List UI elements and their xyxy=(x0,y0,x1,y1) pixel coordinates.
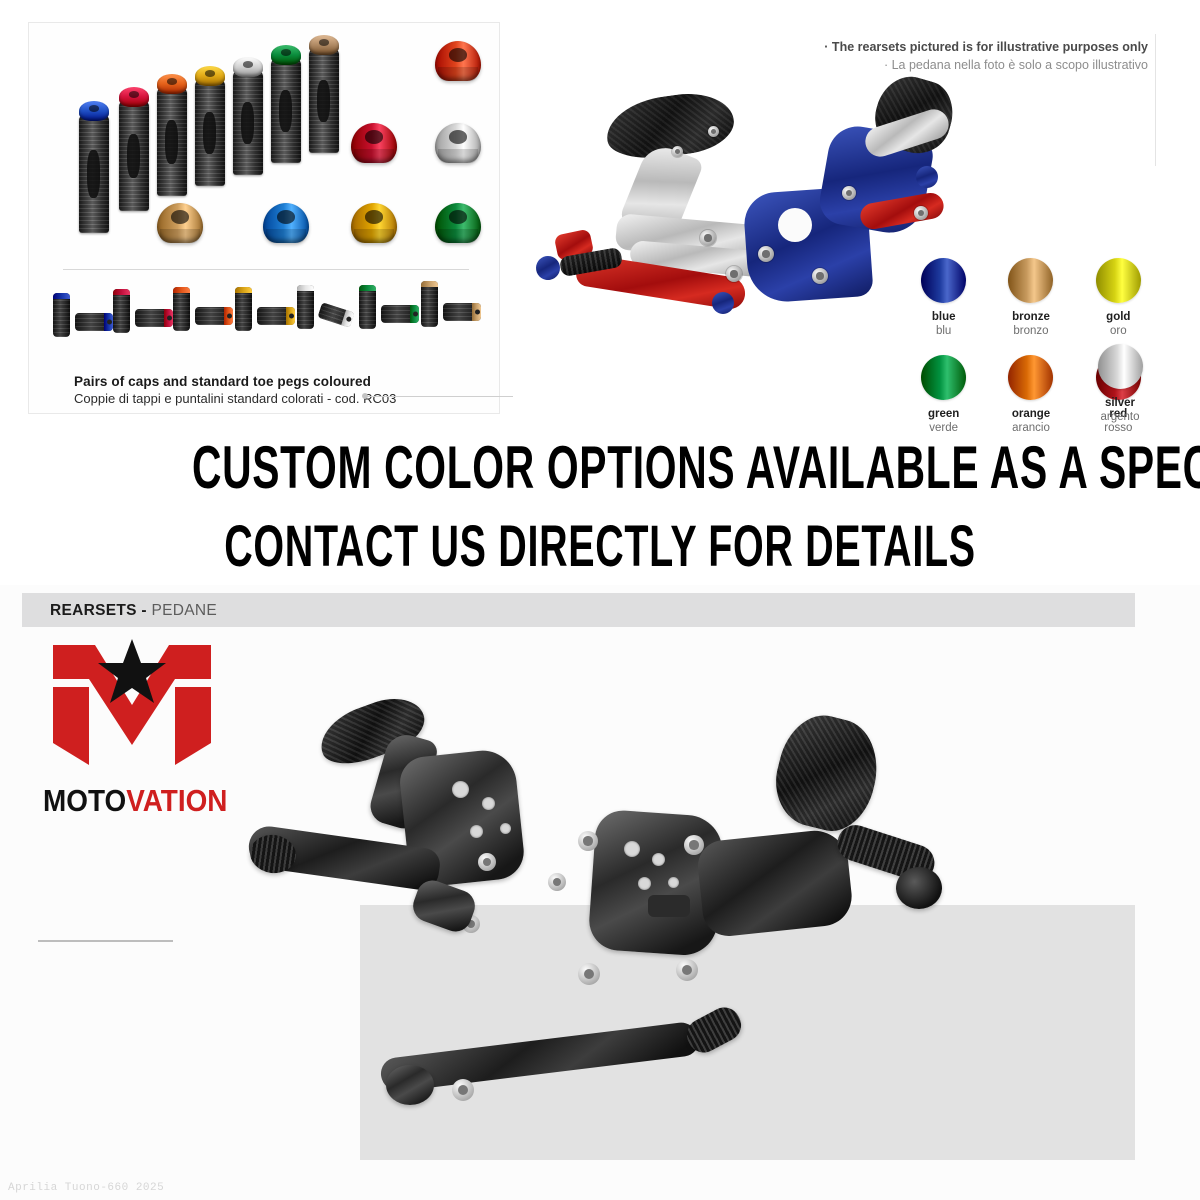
toe-peg-cap-red xyxy=(119,87,149,107)
short-peg-lying xyxy=(195,307,233,325)
bolt xyxy=(914,206,928,220)
motovation-wordmark: MOTOVATION xyxy=(43,783,210,819)
gear-lever-pivot xyxy=(386,1065,434,1105)
bolt xyxy=(478,853,496,871)
plate-hole xyxy=(500,823,511,834)
rearsets-header-bar: REARSETS - PEDANE xyxy=(22,593,1135,627)
swatch-label-en: silver xyxy=(1076,396,1164,410)
swatch-label-it: argento xyxy=(1076,410,1164,424)
swatch-blue[interactable]: blue blu xyxy=(900,258,987,339)
swatch-label-en: bronze xyxy=(987,310,1074,324)
short-peg xyxy=(235,287,252,331)
rearset-photo xyxy=(520,70,940,350)
bolt xyxy=(758,246,774,262)
toe-pegs-catalog-card xyxy=(28,22,500,414)
toe-peg-cap-bronze xyxy=(309,35,339,55)
caps-caption-it: Coppie di tappi e puntalini standard col… xyxy=(74,391,396,406)
filler-cap-red xyxy=(351,123,397,163)
swatch-silver-wrap: silver argento xyxy=(1076,344,1164,425)
motovation-logo: MOTOVATION xyxy=(35,633,230,818)
toe-peg xyxy=(157,88,187,196)
plate-hole xyxy=(624,841,640,857)
swatch-dot-orange xyxy=(1008,355,1053,400)
plate-bore xyxy=(778,208,812,242)
card-divider xyxy=(63,269,469,270)
swatch-dot-gold xyxy=(1096,258,1141,303)
toe-peg xyxy=(309,49,339,153)
plate-hole xyxy=(482,797,495,810)
illustrative-note: · The rearsets pictured is for illustrat… xyxy=(824,38,1148,74)
toe-peg xyxy=(79,115,109,233)
caption-lead-line xyxy=(368,396,513,397)
heel-plate-part-right xyxy=(766,707,888,839)
plate-part-right-2 xyxy=(695,827,854,938)
caps-caption-en: Pairs of caps and standard toe pegs colo… xyxy=(74,374,396,389)
wordmark-moto: MOTO xyxy=(43,783,126,818)
short-peg xyxy=(359,285,376,329)
toe-peg-cap-orange xyxy=(157,74,187,94)
filler-cap-blue xyxy=(263,203,309,243)
bolt xyxy=(548,873,566,891)
toe-peg xyxy=(271,59,301,163)
plate-hole xyxy=(668,877,679,888)
swatch-label-en: orange xyxy=(987,407,1074,421)
short-peg xyxy=(53,293,70,337)
swatch-bronze[interactable]: bronze bronzo xyxy=(987,258,1074,339)
filler-cap-bronze xyxy=(157,203,203,243)
swatch-dot-bronze xyxy=(1008,258,1053,303)
bolt xyxy=(726,266,742,282)
bolt xyxy=(578,831,598,851)
bottom-section: REARSETS - PEDANE MOTOVATION xyxy=(0,585,1200,1200)
bolt xyxy=(812,268,828,284)
swatch-label-it: oro xyxy=(1075,324,1162,338)
short-peg-lying xyxy=(257,307,295,325)
short-peg-lying xyxy=(443,303,481,321)
plate-hole xyxy=(638,877,651,890)
toe-peg-cap-silver xyxy=(233,57,263,77)
short-peg xyxy=(113,289,130,333)
peg-end-blue-2 xyxy=(916,166,938,188)
headline-block: CUSTOM COLOR OPTIONS AVAILABLE AS A SPEC… xyxy=(0,436,1200,578)
motovation-mark-icon xyxy=(35,633,230,783)
rearsets-header-bold: REARSETS - xyxy=(50,602,147,619)
swatch-label-it: blu xyxy=(900,324,987,338)
wordmark-vation: VATION xyxy=(126,783,227,818)
filler-cap-silver xyxy=(435,123,481,163)
left-divider-rule xyxy=(38,940,173,942)
plate-hole xyxy=(652,853,665,866)
toe-peg-cap-blue xyxy=(79,101,109,121)
toe-peg xyxy=(195,80,225,186)
headline-line-2: CONTACT US DIRECTLY FOR DETAILS xyxy=(192,517,1008,578)
toe-peg xyxy=(119,101,149,211)
swatch-gold[interactable]: gold oro xyxy=(1075,258,1162,339)
bolt xyxy=(684,835,704,855)
note-vertical-rule xyxy=(1155,34,1156,166)
bolt xyxy=(676,959,698,981)
rearsets-header-text: REARSETS - PEDANE xyxy=(50,602,217,620)
product-sheet-page: Pairs of caps and standard toe pegs colo… xyxy=(0,0,1200,1200)
swatch-dot-blue xyxy=(921,258,966,303)
peg-end-blue xyxy=(534,254,562,282)
short-peg-lying xyxy=(317,302,354,328)
swatch-silver[interactable]: silver argento xyxy=(1076,344,1164,425)
plate-hole xyxy=(452,781,469,798)
lever-tip-blue xyxy=(712,292,734,314)
plate-hole xyxy=(470,825,483,838)
top-section: Pairs of caps and standard toe pegs colo… xyxy=(0,0,1200,430)
toe-peg xyxy=(233,71,263,175)
color-swatch-grid: blue blu bronze bronzo gold oro green xyxy=(900,258,1162,436)
swatch-label-it: bronzo xyxy=(987,324,1074,338)
filler-cap-gold xyxy=(351,203,397,243)
bolt xyxy=(842,186,856,200)
caps-caption: Pairs of caps and standard toe pegs colo… xyxy=(74,374,396,406)
background-panel xyxy=(360,905,1135,1160)
bolt xyxy=(578,963,600,985)
illustrative-note-en: · The rearsets pictured is for illustrat… xyxy=(824,38,1148,56)
rearsets-header-light: PEDANE xyxy=(151,602,217,619)
filler-cap-orange-red xyxy=(435,41,481,81)
toe-peg-cap-gold xyxy=(195,66,225,86)
short-peg xyxy=(173,287,190,331)
short-peg xyxy=(297,285,314,329)
short-peg-lying xyxy=(381,305,419,323)
swatch-orange[interactable]: orange arancio xyxy=(987,355,1074,436)
foot-peg-end xyxy=(896,867,942,909)
short-peg xyxy=(421,281,438,327)
filler-cap-green xyxy=(435,203,481,243)
footer-caption: Aprilia Tuono-660 2025 xyxy=(8,1182,164,1194)
swatch-dot-silver xyxy=(1098,344,1143,389)
toe-peg-cap-green xyxy=(271,45,301,65)
plate-slot xyxy=(648,895,690,917)
short-peg-lying xyxy=(75,313,113,331)
bolt xyxy=(452,1079,474,1101)
bolt xyxy=(672,146,683,157)
swatch-row-1: blue blu bronze bronzo gold oro xyxy=(900,258,1162,339)
bolt xyxy=(700,230,716,246)
short-peg-lying xyxy=(135,309,173,327)
swatch-label-en: blue xyxy=(900,310,987,324)
swatch-dot-green xyxy=(921,355,966,400)
headline-line-1: CUSTOM COLOR OPTIONS AVAILABLE AS A SPEC… xyxy=(192,436,1008,499)
swatch-label-en: green xyxy=(900,407,987,421)
swatch-green[interactable]: green verde xyxy=(900,355,987,436)
bolt xyxy=(708,126,719,137)
swatch-label-en: gold xyxy=(1075,310,1162,324)
